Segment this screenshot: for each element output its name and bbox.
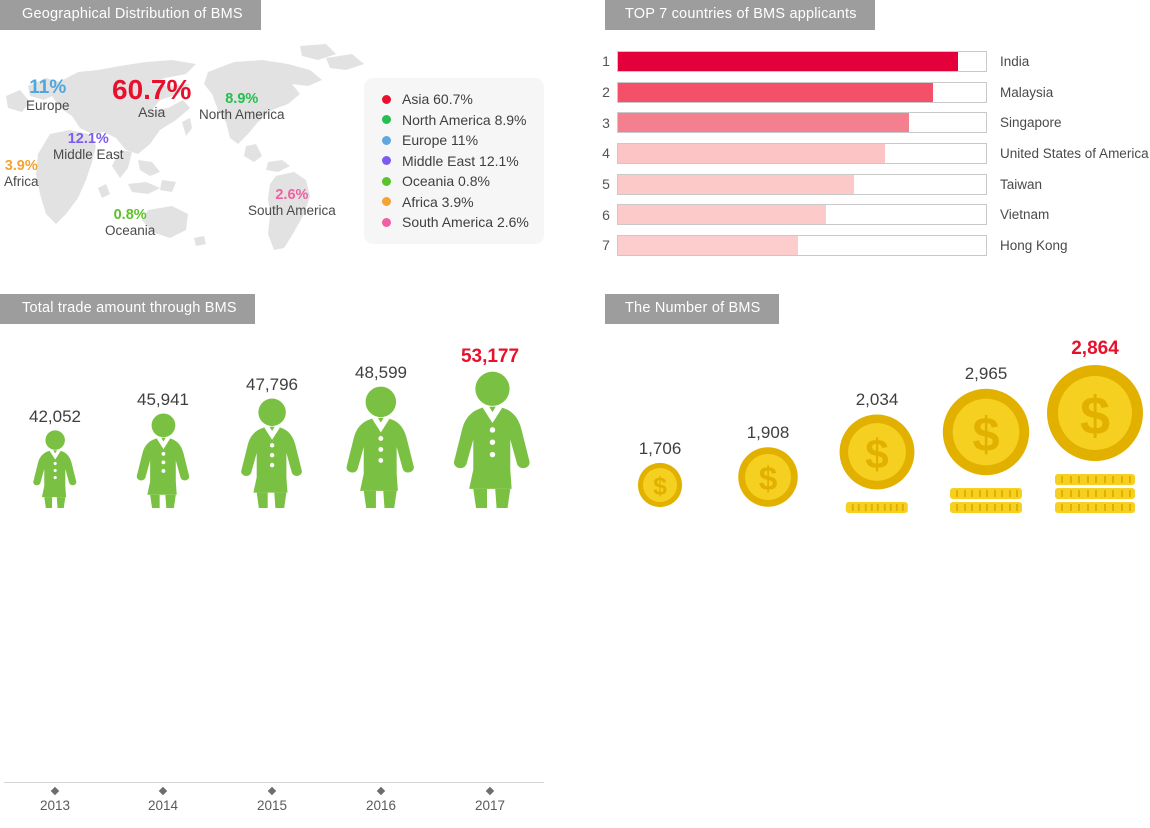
trade-value-label: 47,796 [246,375,298,395]
count-coin-stack: $ [931,392,1041,513]
legend-dot-icon [382,136,391,145]
trade-person-pictogram [232,398,312,513]
top7-bar-fill [618,205,826,224]
count-coin-disc: $ [737,446,799,513]
map-pct-africa: 3.9% [4,159,39,174]
map-pct-middle-east: 12.1% [53,132,124,147]
legend-item-5[interactable]: Africa 3.9% [364,192,544,213]
trade-person-pictogram [450,371,530,513]
map-region-europe: Europe [26,99,70,113]
person-icon [238,398,306,508]
trade-person-pictogram [15,430,95,513]
top7-row[interactable]: 7Hong Kong [595,230,1150,261]
top7-bar-fill [618,113,909,132]
count-coin-disc: $ [941,387,1031,482]
person-icon [31,430,79,508]
legend-dot-icon [382,177,391,186]
trade-value-label: 42,052 [29,407,81,427]
top7-bar-track [617,112,987,133]
top7-row[interactable]: 3Singapore [595,107,1150,138]
count-coin-edge [1055,488,1135,499]
trade-pictogram-chart: 42,05245,94147,79648,59953,177 [0,333,560,513]
count-value-label: 1,908 [747,423,790,443]
trade-year-label: 2017 [475,798,505,813]
map-label-oceania: 0.8% Oceania [105,208,155,238]
trade-axis-line [4,782,544,783]
map-pct-south-america: 2.6% [248,188,336,203]
trade-axis-tick-2016: 2016 [366,788,396,813]
top7-rank: 4 [595,145,617,161]
coin-icon: $ [737,446,799,508]
trade-value-label: 48,599 [355,363,407,383]
top7-bar-track [617,51,987,72]
coin-icon: $ [1045,363,1145,463]
map-legend: Asia 60.7%North America 8.9%Europe 11%Mi… [364,78,544,244]
map-region-africa: Africa [4,175,39,189]
top7-rank: 1 [595,53,617,69]
map-region-asia: Asia [112,105,191,120]
trade-year-label: 2015 [257,798,287,813]
count-coin-stack: $ [713,451,823,513]
coin-icon: $ [941,387,1031,477]
panel-top7-countries: TOP 7 countries of BMS applicants 1India… [595,0,1150,275]
legend-label: North America 8.9% [402,112,527,128]
map-label-asia: 60.7% Asia [112,75,191,120]
top7-rank: 5 [595,176,617,192]
svg-text:$: $ [653,474,667,501]
top7-country-label: Vietnam [1000,207,1049,222]
top7-row[interactable]: 4United States of America [595,138,1150,169]
count-coin-disc: $ [1045,363,1145,468]
top7-row[interactable]: 6Vietnam [595,199,1150,230]
trade-axis-tick-2013: 2013 [40,788,70,813]
legend-dot-icon [382,115,391,124]
trade-column-2013: 42,052 [15,430,95,513]
legend-label: Middle East 12.1% [402,153,519,169]
trade-axis-tick-2015: 2015 [257,788,287,813]
top7-bar-track [617,204,987,225]
legend-dot-icon [382,218,391,227]
trade-value-label: 45,941 [137,390,189,410]
legend-label: South America 2.6% [402,214,529,230]
top7-row[interactable]: 1India [595,46,1150,77]
trade-year-label: 2013 [40,798,70,813]
svg-text:$: $ [865,430,888,477]
top7-bar-fill [618,236,798,255]
top7-bar-fill [618,52,958,71]
trade-column-2017: 53,177 [450,371,530,513]
top7-bar-list: 1India2Malaysia3Singapore4United States … [595,46,1150,261]
legend-dot-icon [382,197,391,206]
count-coin-edge [1055,474,1135,485]
top7-country-label: United States of America [1000,146,1149,161]
top7-country-label: Singapore [1000,115,1062,130]
count-coin-edge [846,502,908,513]
count-value-label: 2,034 [856,390,899,410]
count-coin-edge [1055,502,1135,513]
legend-item-3[interactable]: Middle East 12.1% [364,151,544,172]
top7-bar-fill [618,83,933,102]
map-label-africa: 3.9% Africa [4,159,39,189]
trade-value-label: 53,177 [461,346,519,368]
count-value-label: 2,965 [965,364,1008,384]
top7-bar-fill [618,175,854,194]
legend-item-2[interactable]: Europe 11% [364,130,544,151]
top7-country-label: Hong Kong [1000,238,1068,253]
count-coin-disc: $ [838,413,916,496]
top7-bar-track [617,174,987,195]
map-pct-europe: 11% [26,78,70,98]
trade-column-2016: 48,599 [341,386,421,513]
legend-label: Africa 3.9% [402,194,474,210]
map-region-middle-east: Middle East [53,148,124,162]
count-coin-stack: $ [605,467,715,513]
map-label-south-america: 2.6% South America [248,188,336,218]
count-value-label: 1,706 [639,439,682,459]
map-label-north-america: 8.9% North America [199,92,285,122]
diamond-icon [377,787,385,795]
diamond-icon [268,787,276,795]
trade-column-2015: 47,796 [232,398,312,513]
panel-title-number-of-bms: The Number of BMS [605,294,779,324]
trade-axis-tick-2014: 2014 [148,788,178,813]
count-coin-stack: $ [822,418,932,513]
panel-total-trade-amount: Total trade amount through BMS 42,05245,… [0,285,580,560]
svg-text:$: $ [972,408,999,462]
top7-rank: 2 [595,84,617,100]
top7-rank: 3 [595,115,617,131]
map-region-north-america: North America [199,108,285,122]
trade-person-pictogram [341,386,421,513]
svg-text:$: $ [1080,386,1110,446]
map-region-south-america: South America [248,204,336,218]
top7-country-label: India [1000,54,1029,69]
top7-rank: 7 [595,237,617,253]
top7-row[interactable]: 5Taiwan [595,169,1150,200]
top7-country-label: Taiwan [1000,177,1042,192]
legend-label: Europe 11% [402,132,478,148]
legend-item-4[interactable]: Oceania 0.8% [364,171,544,192]
top7-bar-fill [618,144,885,163]
panel-title-top7-countries: TOP 7 countries of BMS applicants [605,0,875,30]
legend-dot-icon [382,95,391,104]
trade-axis-tick-2017: 2017 [475,788,505,813]
legend-label: Oceania 0.8% [402,173,490,189]
map-pct-oceania: 0.8% [105,208,155,223]
legend-dot-icon [382,156,391,165]
legend-item-6[interactable]: South America 2.6% [364,212,544,233]
count-coin-edge [950,502,1022,513]
diamond-icon [486,787,494,795]
count-pictogram-chart: 1,706$1,908$2,034$2,965$2,864$ [595,333,1150,513]
map-label-europe: 11% Europe [26,78,70,113]
trade-person-pictogram [123,413,203,513]
top7-bar-track [617,143,987,164]
person-icon [134,413,193,508]
count-coin-disc: $ [637,462,683,513]
top7-row[interactable]: 2Malaysia [595,77,1150,108]
panel-title-geographical-distribution: Geographical Distribution of BMS [0,0,261,30]
count-coin-stack: $ [1040,368,1150,513]
panel-title-total-trade-amount: Total trade amount through BMS [0,294,255,324]
map-label-middle-east: 12.1% Middle East [53,132,124,162]
legend-label: Asia 60.7% [402,91,473,107]
count-value-label: 2,864 [1071,338,1119,360]
world-map: 60.7% Asia 11% Europe 12.1% Middle East … [0,34,370,264]
trade-column-2014: 45,941 [123,413,203,513]
diamond-icon [51,787,59,795]
panel-number-of-bms: The Number of BMS 1,706$1,908$2,034$2,96… [595,285,1150,560]
map-region-oceania: Oceania [105,224,155,238]
trade-axis-ticks: 20132014201520162017 [0,788,560,828]
top7-bar-track [617,82,987,103]
map-pct-north-america: 8.9% [199,92,285,107]
coin-icon: $ [637,462,683,508]
diamond-icon [159,787,167,795]
count-coin-edge [950,488,1022,499]
svg-text:$: $ [759,461,778,498]
panel-geographical-distribution: Geographical Distribution of BMS [0,0,580,280]
legend-item-0[interactable]: Asia 60.7% [364,89,544,110]
person-icon [343,386,419,508]
top7-country-label: Malaysia [1000,85,1053,100]
person-icon [450,371,535,508]
trade-year-label: 2016 [366,798,396,813]
map-pct-asia: 60.7% [112,75,191,104]
top7-rank: 6 [595,207,617,223]
coin-icon: $ [838,413,916,491]
legend-item-1[interactable]: North America 8.9% [364,110,544,131]
top7-bar-track [617,235,987,256]
trade-year-label: 2014 [148,798,178,813]
